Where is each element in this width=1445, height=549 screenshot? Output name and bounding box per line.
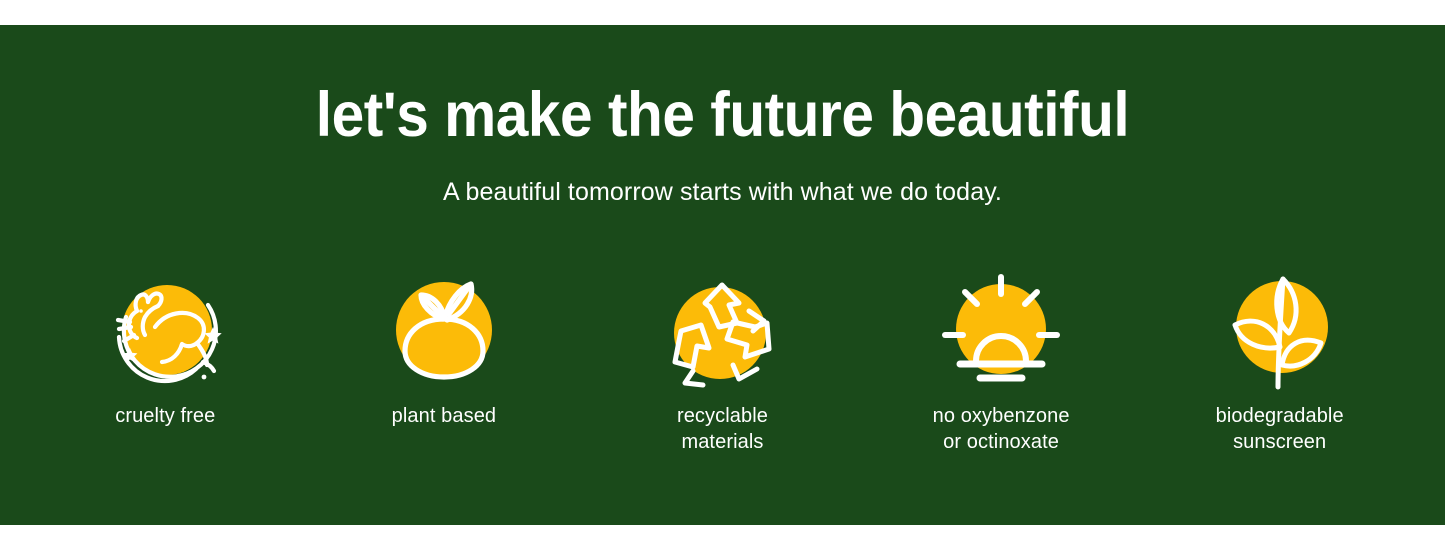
- page-subtitle: A beautiful tomorrow starts with what we…: [0, 177, 1445, 207]
- feature-label: biodegradable sunscreen: [1216, 403, 1344, 455]
- leaping-bunny-icon: [100, 265, 230, 395]
- feature-recyclable-materials: recyclable materials: [583, 265, 862, 455]
- recycling-arrows-icon: [657, 265, 787, 395]
- feature-label: cruelty free: [115, 403, 215, 429]
- tomato-plant-icon: [379, 265, 509, 395]
- page-root: let's make the future beautiful A beauti…: [0, 0, 1445, 549]
- feature-label: plant based: [392, 403, 497, 429]
- feature-no-oxybenzone: no oxybenzone or octinoxate: [862, 265, 1141, 455]
- feature-label: recyclable materials: [677, 403, 768, 455]
- feature-cruelty-free: cruelty free: [26, 265, 305, 429]
- feature-biodegradable-sunscreen: biodegradable sunscreen: [1140, 265, 1419, 455]
- feature-plant-based: plant based: [305, 265, 584, 429]
- leaf-sprig-icon: [1215, 265, 1345, 395]
- sunrise-icon: [936, 265, 1066, 395]
- feature-label: no oxybenzone or octinoxate: [933, 403, 1070, 455]
- page-title: let's make the future beautiful: [51, 81, 1395, 149]
- sustainability-banner: let's make the future beautiful A beauti…: [0, 25, 1445, 525]
- feature-list: cruelty free: [0, 265, 1445, 455]
